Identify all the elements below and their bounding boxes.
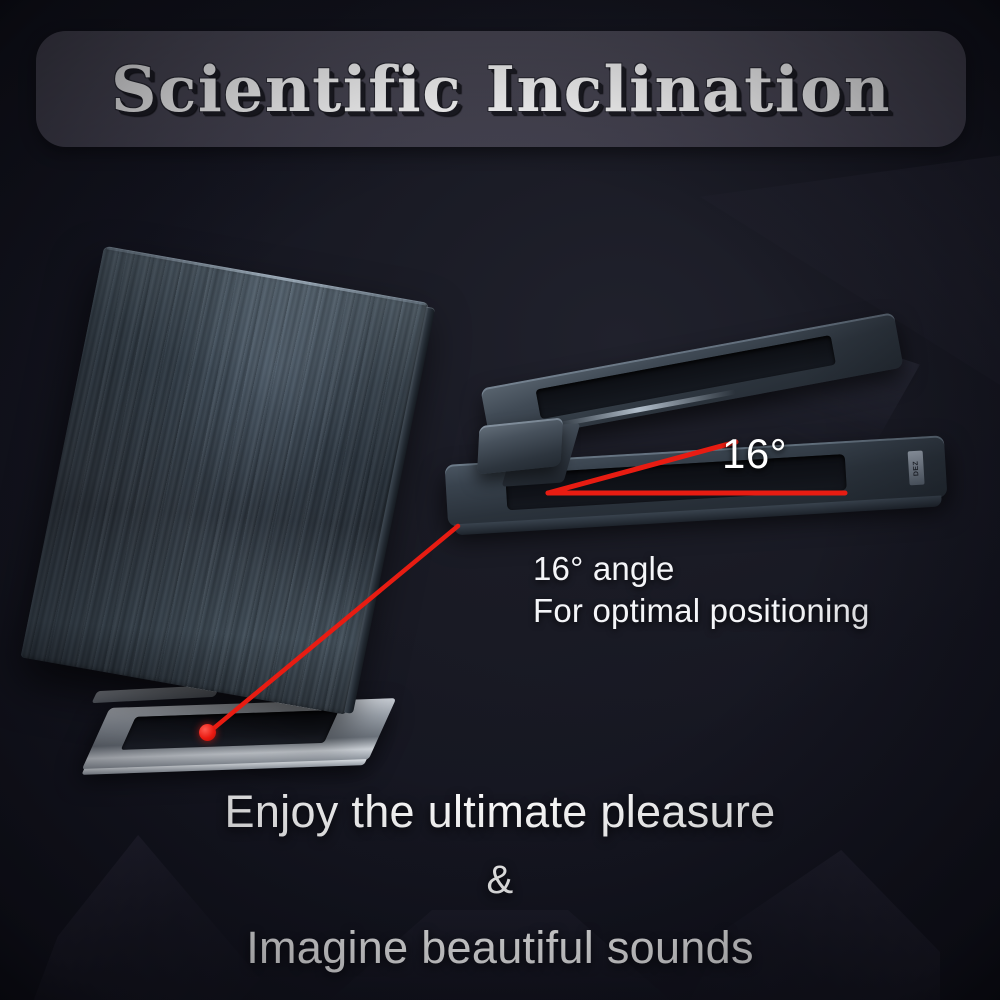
slogan-line-3: Imagine beautiful sounds — [0, 914, 1000, 982]
caption-line-1: 16° angle — [533, 548, 953, 590]
panel-top-highlight — [107, 246, 427, 305]
title-banner: Scientific Inclination — [36, 31, 966, 147]
hinge-marker-dot — [199, 724, 216, 741]
folding-stand-diagram: DEZ 16° — [440, 330, 970, 555]
angle-caption: 16° angle For optimal positioning — [533, 548, 953, 632]
slogan-ampersand: & — [0, 846, 1000, 914]
brand-logo-text: DEZ — [912, 460, 920, 476]
brand-logo-badge: DEZ — [908, 451, 925, 486]
panel-right-edge — [344, 307, 435, 714]
angle-value-label: 16° — [722, 430, 787, 478]
stand-base-cutout — [121, 710, 339, 750]
panel-sheen-overlay — [20, 246, 429, 715]
wood-speaker-panel — [20, 246, 429, 715]
page-title: Scientific Inclination — [111, 52, 891, 126]
caption-line-2: For optimal positioning — [533, 590, 953, 632]
slogan-block: Enjoy the ultimate pleasure & Imagine be… — [0, 778, 1000, 982]
stand-hinge-block — [477, 417, 563, 474]
product-marketing-image: Scientific Inclination DEZ — [0, 0, 1000, 1000]
product-photo-left — [0, 248, 460, 768]
slogan-line-1: Enjoy the ultimate pleasure — [0, 778, 1000, 846]
